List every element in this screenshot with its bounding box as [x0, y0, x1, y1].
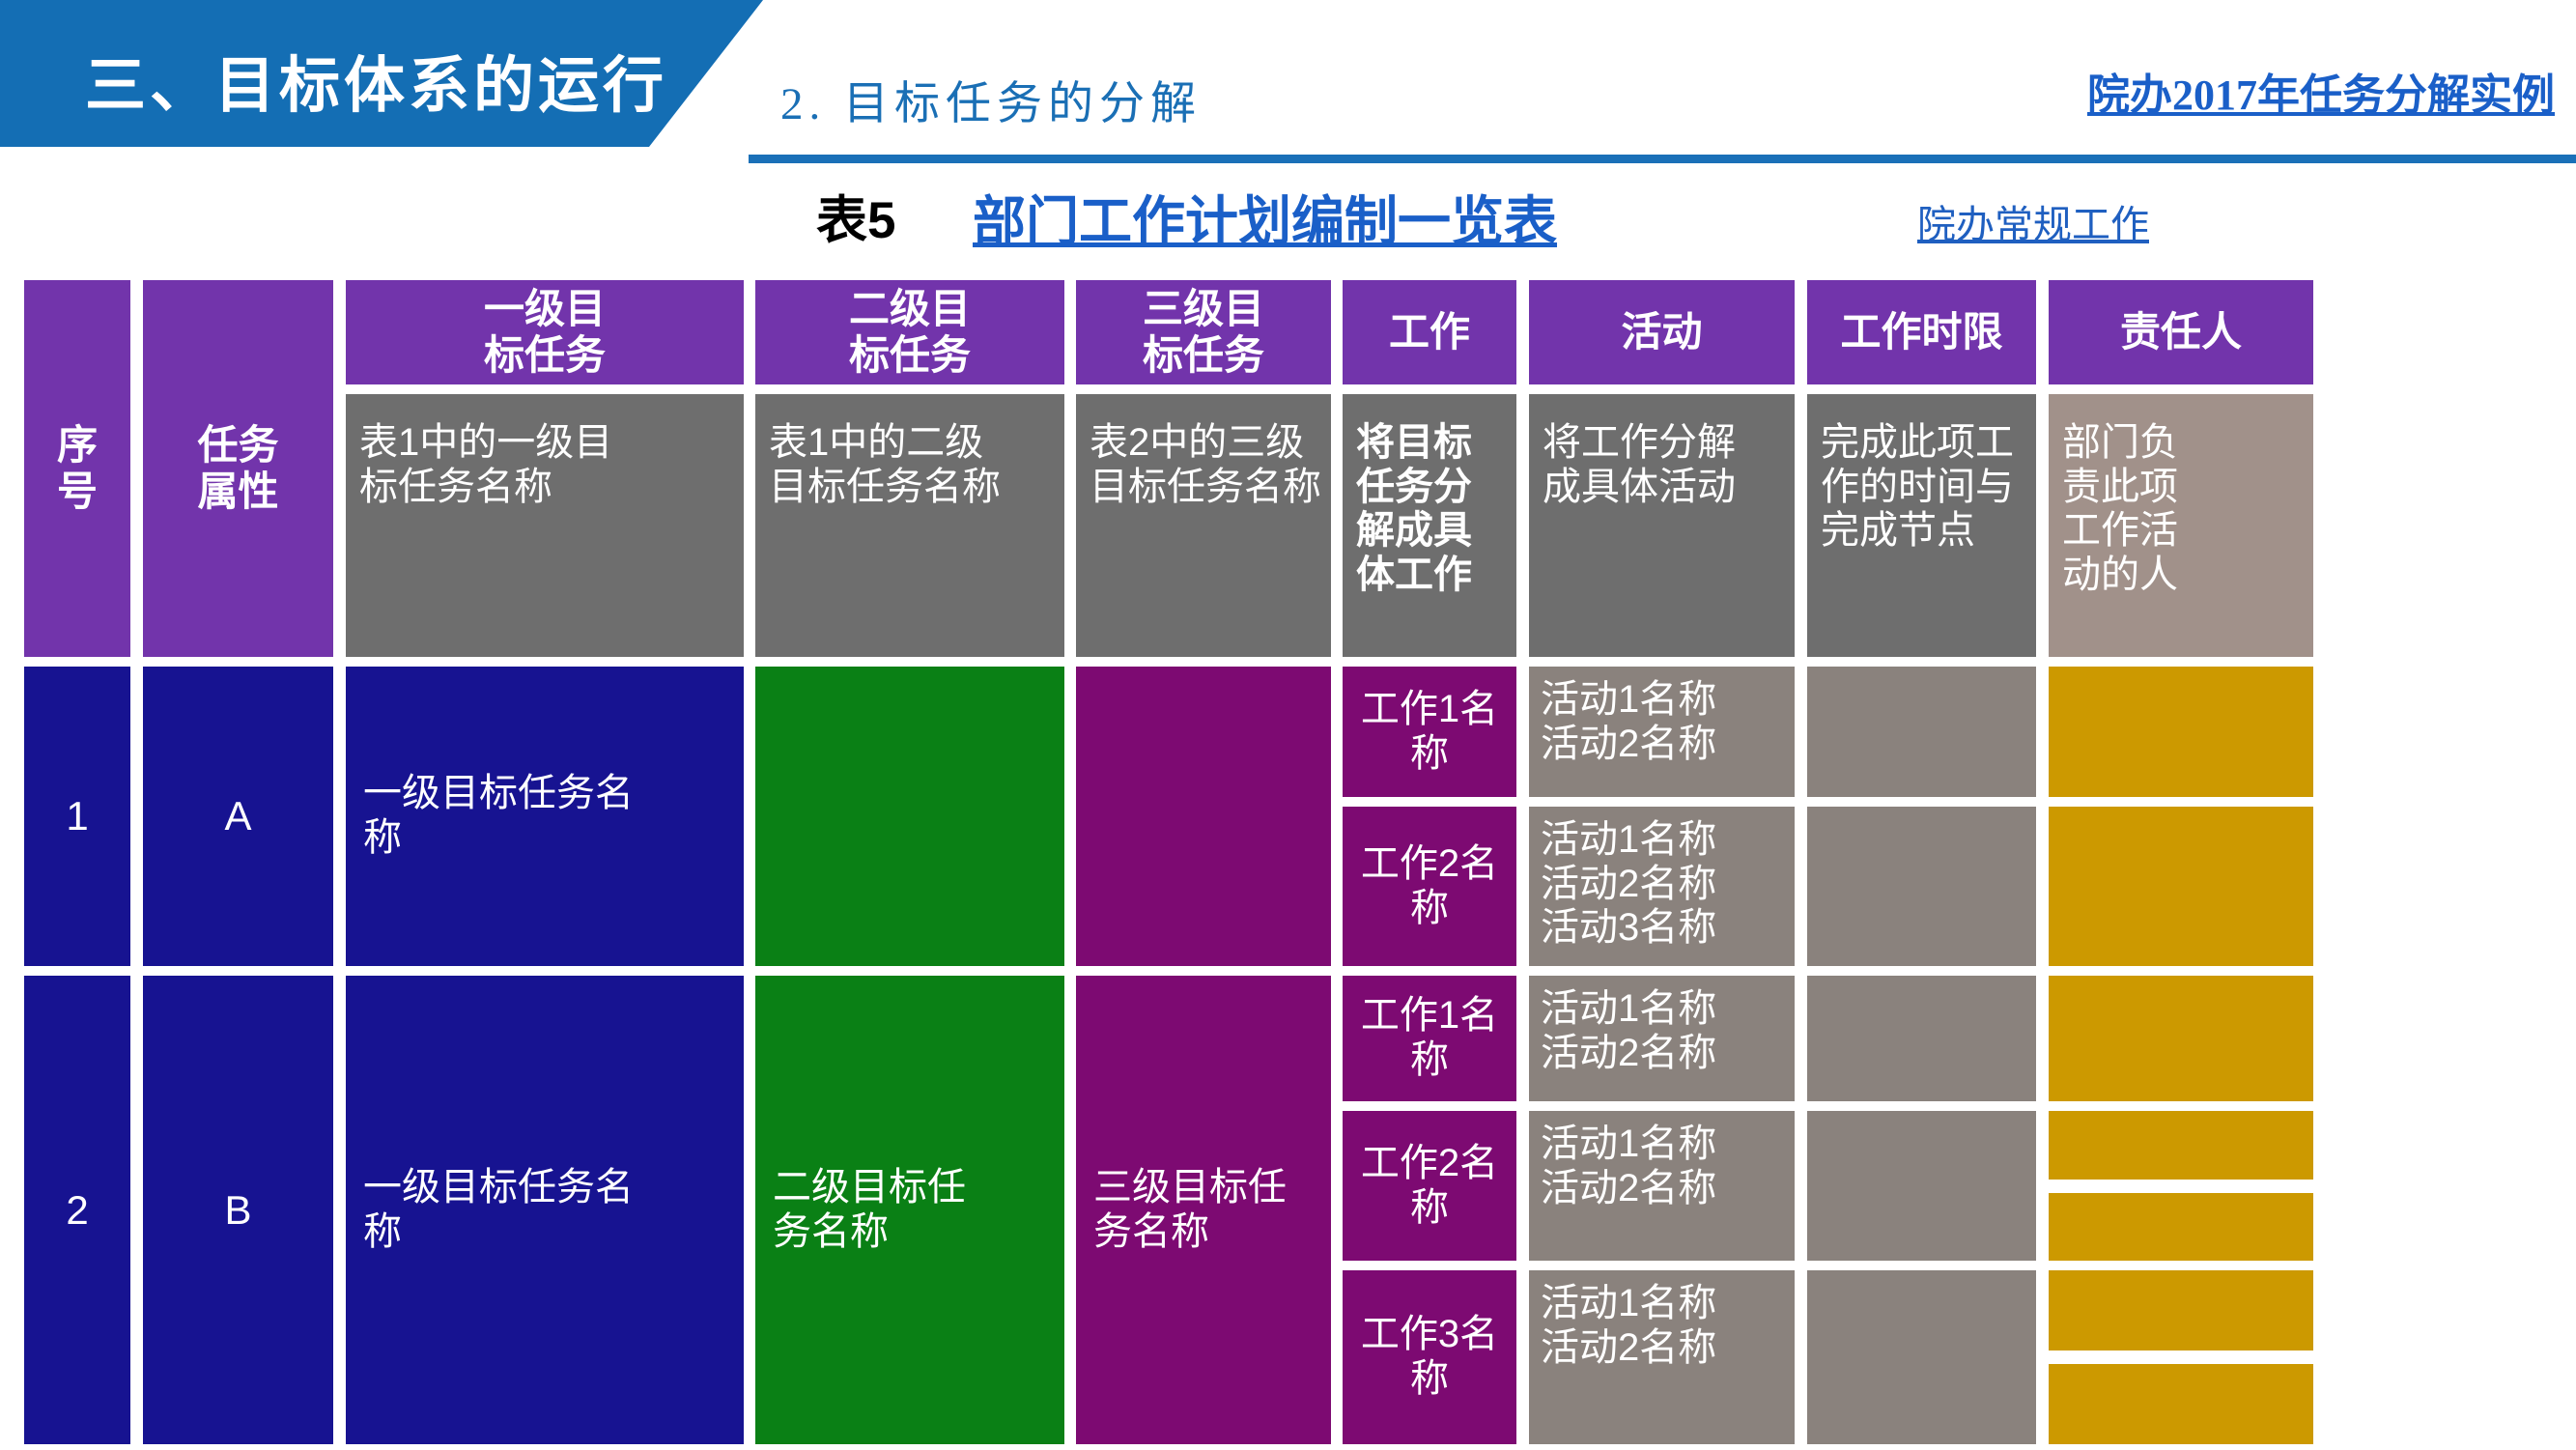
header-cell-work-label: 工作	[1389, 309, 1470, 355]
row-level3: 三级目标任 务名称	[1076, 976, 1331, 1444]
row-level3-label: 三级目标任 务名称	[1093, 1166, 1287, 1254]
row-level1: 一级目标任务名 称	[346, 976, 744, 1444]
row-level3	[1076, 667, 1331, 966]
owner-cell	[2049, 1193, 2313, 1262]
header-desc-level3: 表2中的三级 目标任务名称	[1076, 394, 1331, 657]
header-cell-level2: 二级目 标任务	[755, 280, 1064, 384]
header-cell-attr-label: 任务 属性	[197, 422, 278, 515]
header-cell-level2-label: 二级目 标任务	[849, 286, 971, 379]
work-cell-label: 工作1名称	[1343, 994, 1516, 1082]
row-level2: 二级目标任 务名称	[755, 976, 1064, 1444]
activity-cell-label: 活动1名称 活动2名称	[1541, 1123, 1716, 1210]
row-attr-label: B	[224, 1187, 251, 1234]
deadline-cell	[1807, 807, 2036, 966]
work-cell-label: 工作3名称	[1343, 1313, 1516, 1401]
header-desc-activity-label: 将工作分解 成具体活动	[1543, 421, 1736, 509]
header-cell-seq-label: 序 号	[57, 422, 98, 515]
header-cell-activity-label: 活动	[1621, 309, 1702, 355]
work-cell-label: 工作2名称	[1343, 1142, 1516, 1230]
row-level1-label: 一级目标任务名 称	[363, 772, 634, 860]
header-desc-work-label: 将目标任务分 解成具体工作	[1356, 421, 1507, 597]
work-cell: 工作1名称	[1343, 976, 1516, 1101]
header-cell-level1: 一级目 标任务	[346, 280, 744, 384]
row-seq: 1	[24, 667, 130, 966]
owner-cell	[2049, 1111, 2313, 1180]
header-desc-owner-label: 部门负 责此项 工作活 动的人	[2062, 421, 2178, 597]
owner-cell	[2049, 1364, 2313, 1444]
work-cell: 工作3名称	[1343, 1270, 1516, 1444]
activity-cell-label: 活动1名称 活动2名称	[1541, 678, 1716, 766]
row-seq: 2	[24, 976, 130, 1444]
header-desc-level1-label: 表1中的一级目 标任务名称	[359, 421, 612, 509]
owner-cell	[2049, 976, 2313, 1101]
header-cell-work: 工作	[1343, 280, 1516, 384]
header-desc-level1: 表1中的一级目 标任务名称	[346, 394, 744, 657]
work-cell: 工作2名称	[1343, 1111, 1516, 1261]
activity-cell-label: 活动1名称 活动2名称 活动3名称	[1541, 818, 1716, 951]
header-cell-level3-label: 三级目 标任务	[1143, 286, 1264, 379]
header-desc-activity: 将工作分解 成具体活动	[1529, 394, 1795, 657]
activity-cell: 活动1名称 活动2名称	[1529, 976, 1795, 1101]
work-cell: 工作2名称	[1343, 807, 1516, 966]
deadline-cell	[1807, 1111, 2036, 1261]
header-cell-deadline-label: 工作时限	[1840, 309, 2002, 355]
header-cell-attr: 任务 属性	[143, 280, 333, 657]
header-desc-deadline-label: 完成此项工 作的时间与 完成节点	[1821, 421, 2014, 554]
header-cell-activity: 活动	[1529, 280, 1795, 384]
header-desc-owner: 部门负 责此项 工作活 动的人	[2049, 394, 2313, 657]
header-desc-work: 将目标任务分 解成具体工作	[1343, 394, 1516, 657]
activity-cell: 活动1名称 活动2名称	[1529, 1111, 1795, 1261]
header-cell-owner: 责任人	[2049, 280, 2313, 384]
activity-cell-label: 活动1名称 活动2名称	[1541, 987, 1716, 1075]
activity-cell: 活动1名称 活动2名称	[1529, 667, 1795, 797]
header-desc-level2-label: 表1中的二级 目标任务名称	[769, 421, 1001, 509]
row-level2-label: 二级目标任 务名称	[773, 1166, 966, 1254]
header-desc-level3-label: 表2中的三级 目标任务名称	[1090, 421, 1321, 509]
header-cell-owner-label: 责任人	[2120, 309, 2242, 355]
row-seq-label: 1	[66, 793, 88, 839]
row-level1-label: 一级目标任务名 称	[363, 1166, 634, 1254]
header-cell-seq: 序 号	[24, 280, 130, 657]
work-cell-label: 工作1名称	[1343, 688, 1516, 776]
plan-table: 序 号任务 属性一级目 标任务表1中的一级目 标任务名称二级目 标任务表1中的二…	[0, 0, 2576, 1450]
owner-cell	[2049, 667, 2313, 797]
activity-cell-label: 活动1名称 活动2名称	[1541, 1282, 1716, 1370]
deadline-cell	[1807, 667, 2036, 797]
activity-cell: 活动1名称 活动2名称 活动3名称	[1529, 807, 1795, 966]
header-desc-deadline: 完成此项工 作的时间与 完成节点	[1807, 394, 2036, 657]
owner-cell	[2049, 1270, 2313, 1350]
row-level1: 一级目标任务名 称	[346, 667, 744, 966]
deadline-cell	[1807, 976, 2036, 1101]
owner-cell	[2049, 807, 2313, 966]
row-level2	[755, 667, 1064, 966]
activity-cell: 活动1名称 活动2名称	[1529, 1270, 1795, 1444]
row-attr: A	[143, 667, 333, 966]
header-cell-deadline: 工作时限	[1807, 280, 2036, 384]
header-desc-level2: 表1中的二级 目标任务名称	[755, 394, 1064, 657]
work-cell: 工作1名称	[1343, 667, 1516, 797]
header-cell-level1-label: 一级目 标任务	[484, 286, 606, 379]
header-cell-level3: 三级目 标任务	[1076, 280, 1331, 384]
deadline-cell	[1807, 1270, 2036, 1444]
work-cell-label: 工作2名称	[1343, 842, 1516, 930]
row-attr-label: A	[224, 793, 251, 839]
row-seq-label: 2	[66, 1187, 88, 1234]
row-attr: B	[143, 976, 333, 1444]
